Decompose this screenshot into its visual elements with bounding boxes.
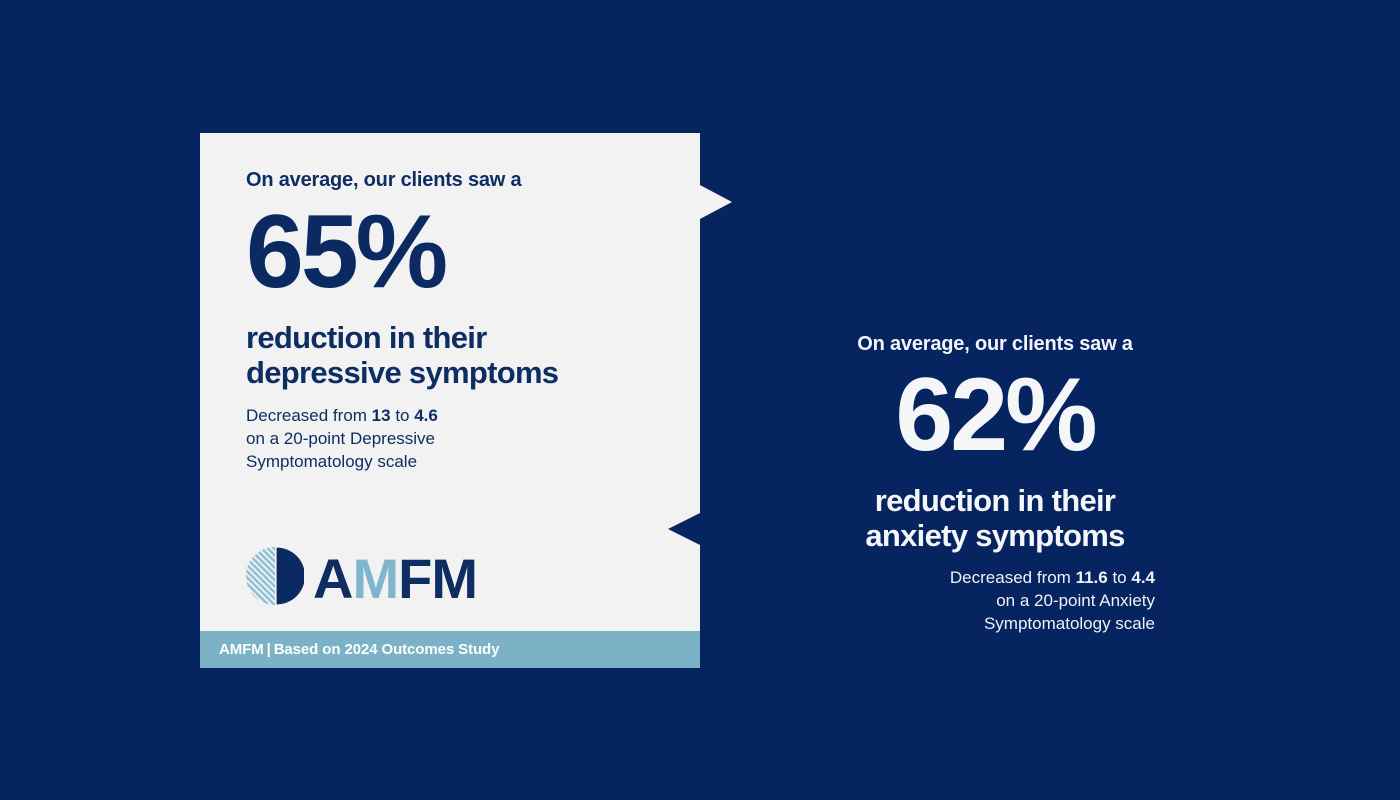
right-eyebrow-text: On average, our clients saw a bbox=[800, 332, 1190, 357]
right-subnote-line2: on a 20-point Anxiety bbox=[996, 591, 1155, 610]
right-subnote-from-value: 11.6 bbox=[1076, 568, 1108, 587]
amfm-wordmark-a: A bbox=[313, 547, 352, 610]
right-subnote-prefix: Decreased from bbox=[950, 568, 1076, 587]
bubble-tail-dark-icon bbox=[668, 513, 700, 545]
amfm-wordmark-fm: FM bbox=[398, 547, 477, 610]
footer-attribution: AMFM|Based on 2024 Outcomes Study bbox=[219, 641, 499, 658]
right-big-percentage: 62% bbox=[800, 373, 1190, 458]
right-subnote-line3: Symptomatology scale bbox=[984, 614, 1155, 633]
right-subnote-middle: to bbox=[1108, 568, 1132, 587]
bubble-tail-light-icon bbox=[700, 185, 732, 219]
card-subnote-middle: to bbox=[391, 406, 415, 425]
footer-separator: | bbox=[264, 641, 274, 658]
anxiety-outcome-block: On average, our clients saw a 62% reduct… bbox=[800, 332, 1190, 636]
right-subnote: Decreased from 11.6 to 4.4 on a 20-point… bbox=[800, 567, 1190, 636]
card-subnote: Decreased from 13 to 4.6 on a 20-point D… bbox=[246, 405, 676, 474]
card-subnote-from-value: 13 bbox=[372, 406, 391, 425]
amfm-circle-mark-icon bbox=[246, 547, 304, 610]
card-footer-bar: AMFM|Based on 2024 Outcomes Study bbox=[200, 631, 700, 668]
card-big-percentage: 65% bbox=[246, 210, 676, 295]
card-subnote-line2: on a 20-point Depressive bbox=[246, 429, 435, 448]
card-subnote-prefix: Decreased from bbox=[246, 406, 372, 425]
card-headline: reduction in their depressive symptoms bbox=[246, 321, 676, 390]
right-headline-line2: anxiety symptoms bbox=[865, 518, 1124, 553]
infographic-canvas: On average, our clients saw a 65% reduct… bbox=[0, 0, 1400, 800]
right-subnote-to-value: 4.4 bbox=[1131, 568, 1155, 587]
card-subnote-line3: Symptomatology scale bbox=[246, 452, 417, 471]
card-subnote-to-value: 4.6 bbox=[414, 406, 438, 425]
card-content: On average, our clients saw a 65% reduct… bbox=[246, 168, 676, 474]
card-headline-line1: reduction in their bbox=[246, 320, 487, 355]
card-headline-line2: depressive symptoms bbox=[246, 355, 558, 390]
amfm-logo: AMFM bbox=[246, 547, 477, 610]
right-headline-line1: reduction in their bbox=[875, 483, 1116, 518]
amfm-wordmark-m: M bbox=[352, 547, 398, 610]
card-eyebrow-text: On average, our clients saw a bbox=[246, 168, 676, 193]
amfm-wordmark: AMFM bbox=[313, 551, 477, 607]
right-headline: reduction in their anxiety symptoms bbox=[800, 484, 1190, 553]
footer-brand: AMFM bbox=[219, 641, 264, 658]
footer-study-text: Based on 2024 Outcomes Study bbox=[274, 641, 500, 658]
